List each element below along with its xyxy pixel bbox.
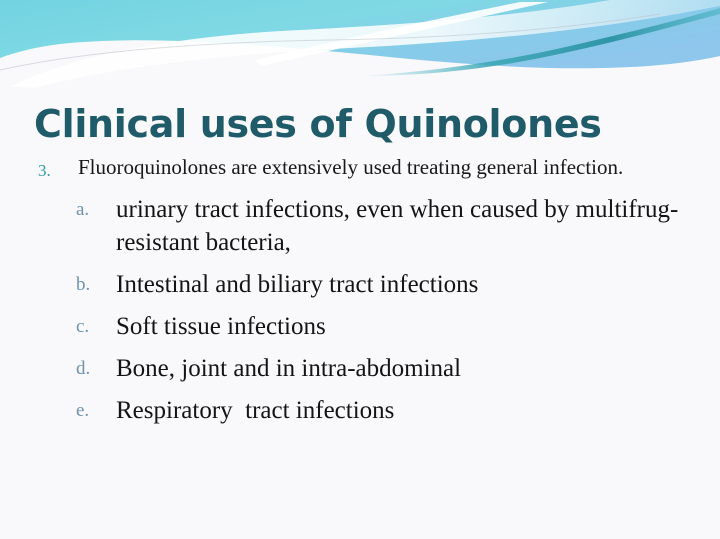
- list-item-e: e. Respiratory tract infections: [0, 394, 720, 427]
- list-item-text-b: Intestinal and biliary tract infections: [102, 268, 706, 301]
- list-marker-d: d.: [76, 352, 102, 385]
- list-item-text-c: Soft tissue infections: [102, 310, 706, 343]
- page-title: Clinical uses of Quinolones: [34, 102, 684, 146]
- sub-outline-list: a. urinary tract infections, even when c…: [0, 193, 720, 427]
- list-item-level1: 3. Fluoroquinolones are extensively used…: [0, 154, 720, 184]
- list-marker-3: 3.: [38, 154, 62, 184]
- list-item-text-d: Bone, joint and in intra-abdominal: [102, 352, 706, 385]
- slide-content-area: Clinical uses of Quinolones 3. Fluoroqui…: [0, 92, 720, 539]
- list-item-text-e: Respiratory tract infections: [102, 394, 706, 427]
- outline-list: 3. Fluoroquinolones are extensively used…: [0, 154, 720, 436]
- list-item-b: b. Intestinal and biliary tract infectio…: [0, 268, 720, 301]
- wave-banner-decoration: [0, 0, 720, 92]
- list-item-d: d. Bone, joint and in intra-abdominal: [0, 352, 720, 385]
- presentation-slide: Clinical uses of Quinolones 3. Fluoroqui…: [0, 0, 720, 539]
- list-item-c: c. Soft tissue infections: [0, 310, 720, 343]
- list-item-text-3: Fluoroquinolones are extensively used tr…: [62, 154, 686, 181]
- list-marker-e: e.: [76, 394, 102, 427]
- list-marker-b: b.: [76, 268, 102, 301]
- list-item-a: a. urinary tract infections, even when c…: [0, 193, 720, 259]
- wave-banner-icon: [0, 0, 720, 92]
- list-item-text-a: urinary tract infections, even when caus…: [102, 193, 706, 259]
- list-marker-a: a.: [76, 193, 102, 226]
- list-marker-c: c.: [76, 310, 102, 343]
